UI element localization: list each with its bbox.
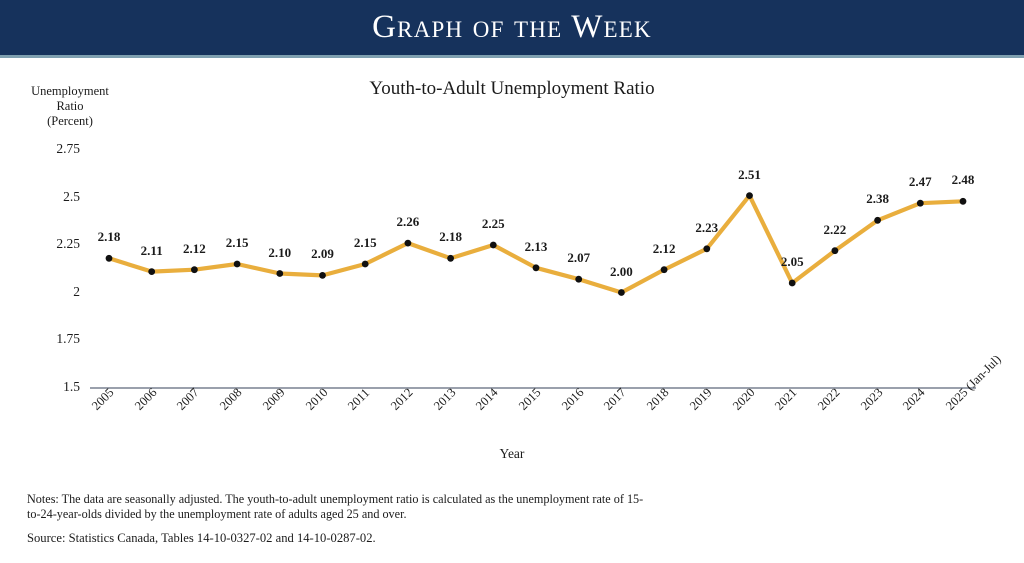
footnotes: Notes: The data are seasonally adjusted.… bbox=[27, 492, 647, 546]
notes-text: Notes: The data are seasonally adjusted.… bbox=[27, 492, 647, 522]
data-point-label: 2.10 bbox=[258, 245, 302, 261]
data-point-label: 2.18 bbox=[429, 229, 473, 245]
data-point-marker bbox=[533, 264, 540, 271]
banner-title: Graph of the Week bbox=[0, 0, 1024, 55]
data-point-label: 2.12 bbox=[172, 241, 216, 257]
data-point-marker bbox=[874, 217, 881, 224]
data-point-label: 2.07 bbox=[557, 250, 601, 266]
data-point-marker bbox=[575, 276, 582, 283]
data-point-marker bbox=[106, 255, 113, 262]
data-point-marker bbox=[447, 255, 454, 262]
data-point-marker bbox=[148, 268, 155, 275]
data-point-label: 2.05 bbox=[770, 254, 814, 270]
data-point-label: 2.47 bbox=[898, 174, 942, 190]
data-point-label: 2.13 bbox=[514, 239, 558, 255]
data-point-label: 2.48 bbox=[941, 172, 985, 188]
data-point-label: 2.15 bbox=[343, 235, 387, 251]
data-point-marker bbox=[405, 240, 412, 247]
data-point-marker bbox=[746, 192, 753, 199]
source-text: Source: Statistics Canada, Tables 14-10-… bbox=[27, 531, 647, 546]
data-point-label: 2.25 bbox=[471, 216, 515, 232]
x-axis-title: Year bbox=[0, 446, 1024, 462]
data-point-marker bbox=[276, 270, 283, 277]
chart-container: Youth-to-Adult Unemployment Ratio Unempl… bbox=[0, 58, 1024, 483]
data-point-marker bbox=[960, 198, 967, 205]
data-point-marker bbox=[832, 247, 839, 254]
data-point-label: 2.00 bbox=[599, 264, 643, 280]
data-point-marker bbox=[618, 289, 625, 296]
data-point-label: 2.15 bbox=[215, 235, 259, 251]
data-point-marker bbox=[191, 266, 198, 273]
data-point-label: 2.18 bbox=[87, 229, 131, 245]
data-point-marker bbox=[661, 266, 668, 273]
data-point-label: 2.26 bbox=[386, 214, 430, 230]
chart-plot-area bbox=[0, 58, 1024, 483]
data-point-marker bbox=[703, 245, 710, 252]
data-point-label: 2.11 bbox=[130, 243, 174, 259]
data-point-marker bbox=[789, 280, 796, 287]
page-header-banner: Graph of the Week bbox=[0, 0, 1024, 58]
data-point-marker bbox=[319, 272, 326, 279]
data-point-label: 2.23 bbox=[685, 220, 729, 236]
data-point-label: 2.09 bbox=[301, 246, 345, 262]
data-point-label: 2.51 bbox=[728, 167, 772, 183]
data-point-marker bbox=[917, 200, 924, 207]
data-point-label: 2.38 bbox=[856, 191, 900, 207]
data-point-marker bbox=[362, 261, 369, 268]
data-point-label: 2.12 bbox=[642, 241, 686, 257]
data-point-marker bbox=[490, 242, 497, 249]
data-point-label: 2.22 bbox=[813, 222, 857, 238]
data-point-marker bbox=[234, 261, 241, 268]
